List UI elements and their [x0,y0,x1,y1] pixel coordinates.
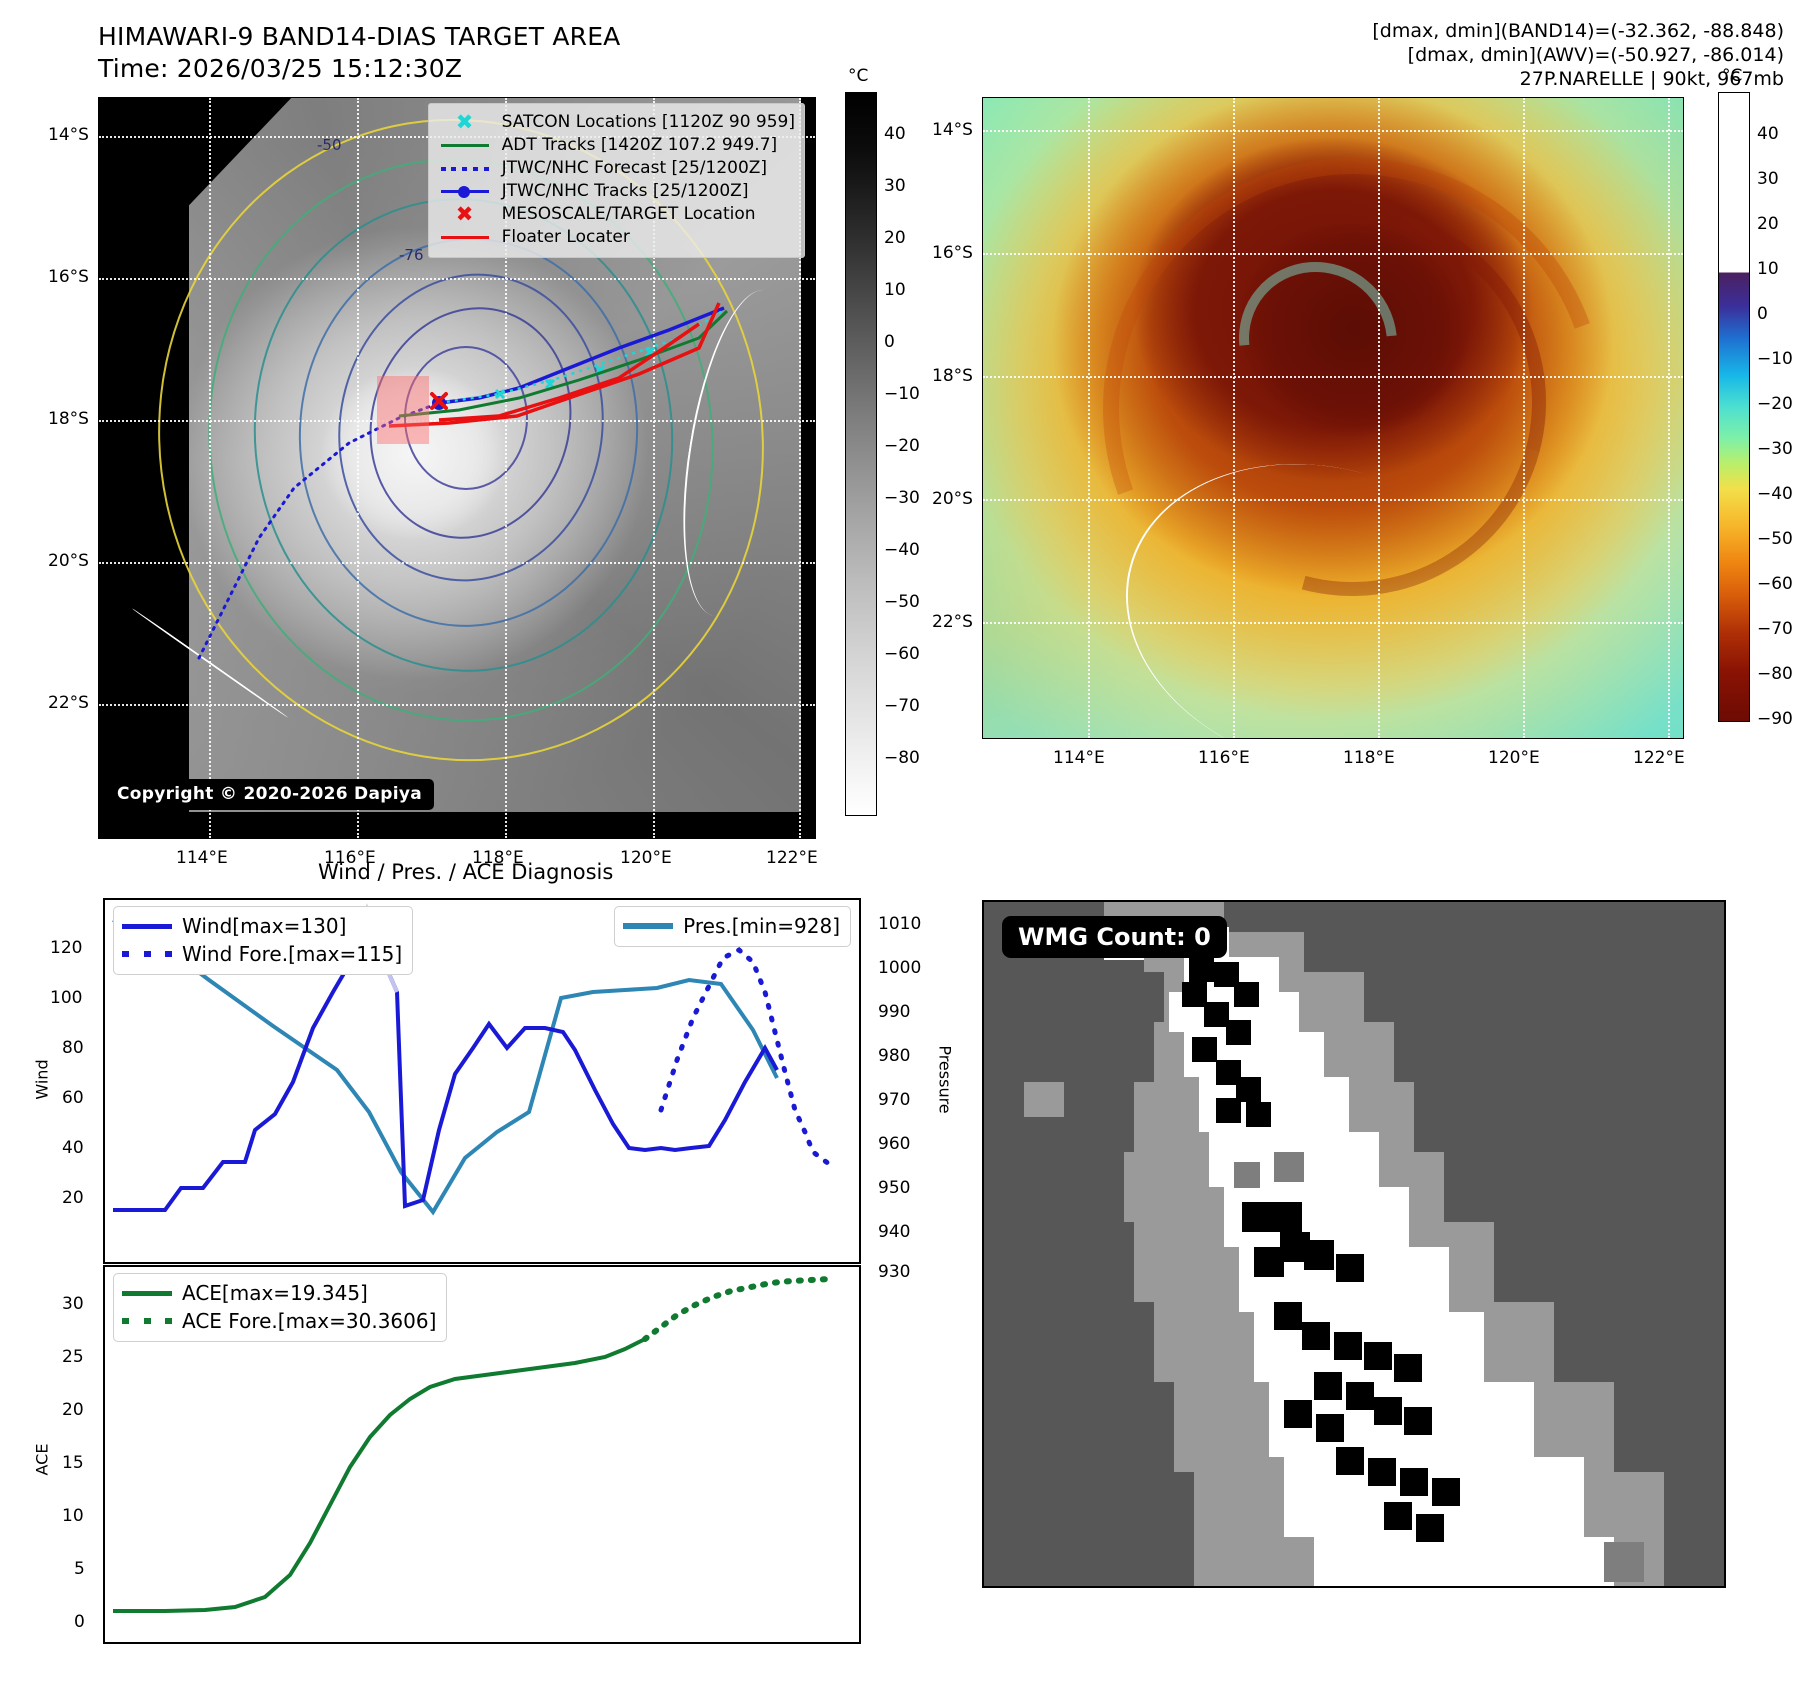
lon-tick-label: 114°E [1053,748,1105,768]
satellite-ir-enhanced-panel[interactable] [982,97,1684,739]
colorbar-tick: −10 [1757,349,1793,369]
ace-tick-label: 15 [62,1453,84,1473]
satcon-location-marker [496,348,654,398]
longitude-gridline [1088,98,1090,738]
pressure-tick-label: 970 [878,1090,910,1110]
colorbar-tick: −30 [884,488,920,508]
colorbar-tick: −20 [1757,394,1793,414]
longitude-gridline [1378,98,1380,738]
colorbar-tick: −80 [1757,664,1793,684]
legend-item: JTWC/NHC Tracks [25/1200Z] [438,180,795,203]
wind-axis-label: Wind [33,1040,52,1120]
legend-label: Floater Locater [502,229,630,246]
legend-item: Floater Locater [438,226,795,249]
lat-tick-label: 14°S [48,125,89,145]
legend-item: Wind[max=130] [122,912,402,940]
colorbar-tick: 0 [1757,304,1768,324]
longitude-gridline [1523,98,1525,738]
diagnosis-title: Wind / Pres. / ACE Diagnosis [318,860,613,884]
jtwc-track-line-icon [438,190,492,194]
legend-item: ACE[max=19.345] [122,1279,436,1307]
legend-label: SATCON Locations [1120Z 90 959] [502,114,795,131]
ace-tick-label: 25 [62,1347,84,1367]
ace-chart[interactable]: ACE[max=19.345] ACE Fore.[max=30.3606] [103,1265,861,1644]
legend-item: Pres.[min=928] [623,912,840,940]
lon-tick-label: 114°E [176,848,228,868]
wind-tick-label: 100 [50,988,82,1008]
legend-label: JTWC/NHC Forecast [25/1200Z] [502,160,767,177]
colorbar-tick: −20 [884,436,920,456]
ace-line-icon [122,1291,174,1296]
colorbar-tick: −70 [1757,619,1793,639]
jtwc-forecast-dotted-icon [438,167,492,171]
lat-tick-label: 16°S [48,267,89,287]
colorbar-tick: −10 [884,384,920,404]
lat-tick-label: 20°S [932,489,973,509]
wind-chart-legend: Wind[max=130] Wind Fore.[max=115] [113,906,413,975]
legend-label: ADT Tracks [1420Z 107.2 949.7] [502,137,778,154]
longitude-gridline [1233,98,1235,738]
pressure-tick-label: 950 [878,1178,910,1198]
colorbar-tick: 40 [1757,124,1779,144]
ir-colorbar [1718,92,1750,722]
pressure-tick-label: 980 [878,1046,910,1066]
ace-series [113,1339,645,1611]
ace-forecast-dotted-icon [122,1318,174,1324]
mesoscale-x-icon: ✖ [438,204,492,225]
colorbar-tick: −30 [1757,439,1793,459]
pressure-tick-label: 990 [878,1002,910,1022]
colorbar-tick: 20 [884,228,906,248]
wind-tick-label: 60 [62,1088,84,1108]
lon-tick-label: 122°E [766,848,818,868]
pressure-tick-label: 930 [878,1262,910,1282]
lon-tick-label: 118°E [1343,748,1395,768]
storm-id: 27P.NARELLE | 90kt, 967mb [1520,68,1784,90]
lat-tick-label: 20°S [48,551,89,571]
lat-tick-label: 22°S [48,693,89,713]
pressure-line-icon [623,923,675,929]
legend-label: ACE[max=19.345] [182,1281,368,1305]
colorbar-unit-label: °C [848,66,868,86]
floater-line-icon [438,236,492,239]
wind-tick-label: 80 [62,1038,84,1058]
wmg-panel[interactable]: WMG Count: 0 [982,900,1726,1588]
ace-tick-label: 0 [74,1612,85,1632]
page-title: HIMAWARI-9 BAND14-DIAS TARGET AREA [98,22,621,51]
wind-tick-label: 40 [62,1138,84,1158]
ace-chart-legend: ACE[max=19.345] ACE Fore.[max=30.3606] [113,1273,447,1342]
lon-tick-label: 120°E [1488,748,1540,768]
lat-tick-label: 16°S [932,243,973,263]
colorbar-tick: 40 [884,124,906,144]
colorbar-tick: −50 [884,592,920,612]
adt-line-icon [438,144,492,147]
wind-forecast-dotted-icon [122,951,174,957]
colorbar-unit-label: °C [1722,66,1742,86]
legend-label: Wind[max=130] [182,914,346,938]
target-area-box [377,376,429,444]
ace-forecast-series [645,1279,829,1339]
ace-tick-label: 10 [62,1506,84,1526]
legend-item: JTWC/NHC Forecast [25/1200Z] [438,157,795,180]
colorbar-tick: 30 [1757,169,1779,189]
pressure-tick-label: 1010 [878,914,921,934]
dashboard-root: HIMAWARI-9 BAND14-DIAS TARGET AREA Time:… [0,0,1797,1690]
legend-label: JTWC/NHC Tracks [25/1200Z] [502,183,749,200]
ace-tick-label: 5 [74,1559,85,1579]
page-time: Time: 2026/03/25 15:12:30Z [98,54,462,83]
colorbar-tick: −40 [884,540,920,560]
colorbar-tick: −90 [1757,709,1793,729]
legend-item: ACE Fore.[max=30.3606] [122,1307,436,1335]
ace-axis-label: ACE [33,1420,52,1500]
legend-label: ACE Fore.[max=30.3606] [182,1309,436,1333]
lat-tick-label: 14°S [932,120,973,140]
wind-line-icon [122,924,174,929]
grayscale-colorbar [845,92,877,816]
lat-tick-label: 18°S [48,409,89,429]
legend-label: MESOSCALE/TARGET Location [502,206,756,223]
wmg-count-badge: WMG Count: 0 [1002,916,1227,958]
legend-item: ✖ SATCON Locations [1120Z 90 959] [438,111,795,134]
pressure-tick-label: 940 [878,1222,910,1242]
colorbar-tick: 10 [1757,259,1779,279]
stats-awv: [dmax, dmin](AWV)=(-50.927, -86.014) [1408,44,1784,66]
legend-item: ✖ MESOSCALE/TARGET Location [438,203,795,226]
colorbar-tick: −40 [1757,484,1793,504]
lon-tick-label: 116°E [1198,748,1250,768]
lat-tick-label: 22°S [932,612,973,632]
stats-band14: [dmax, dmin](BAND14)=(-32.362, -88.848) [1372,20,1784,42]
legend-label: Wind Fore.[max=115] [182,942,402,966]
colorbar-tick: 10 [884,280,906,300]
ace-tick-label: 20 [62,1400,84,1420]
pressure-tick-label: 1000 [878,958,921,978]
legend-label: Pres.[min=928] [683,914,840,938]
pressure-chart-legend: Pres.[min=928] [614,906,851,947]
lon-tick-label: 122°E [1633,748,1685,768]
wind-tick-label: 120 [50,938,82,958]
legend-item: Wind Fore.[max=115] [122,940,402,968]
wmg-pixel-map [984,902,1724,1586]
colorbar-tick: 0 [884,332,895,352]
longitude-gridline [1668,98,1670,738]
pressure-tick-label: 960 [878,1134,910,1154]
colorbar-tick: −70 [884,696,920,716]
ace-tick-label: 30 [62,1294,84,1314]
map-legend: ✖ SATCON Locations [1120Z 90 959] ADT Tr… [428,103,805,258]
colorbar-tick: −80 [884,748,920,768]
lat-tick-label: 18°S [932,366,973,386]
colorbar-tick: −50 [1757,529,1793,549]
satcon-x-icon: ✖ [438,112,492,133]
copyright-badge: Copyright © 2020-2026 Dapiya [107,779,434,810]
lon-tick-label: 120°E [620,848,672,868]
colorbar-tick: 30 [884,176,906,196]
wind-tick-label: 20 [62,1188,84,1208]
satellite-band14-panel[interactable]: -76 -50 [98,97,816,839]
colorbar-tick: 20 [1757,214,1779,234]
legend-item: ADT Tracks [1420Z 107.2 949.7] [438,134,795,157]
colorbar-tick: −60 [1757,574,1793,594]
wind-pressure-chart[interactable]: Wind[max=130] Wind Fore.[max=115] Pres.[… [103,898,861,1264]
colorbar-tick: −60 [884,644,920,664]
pressure-axis-label: Pressure [936,1035,955,1125]
